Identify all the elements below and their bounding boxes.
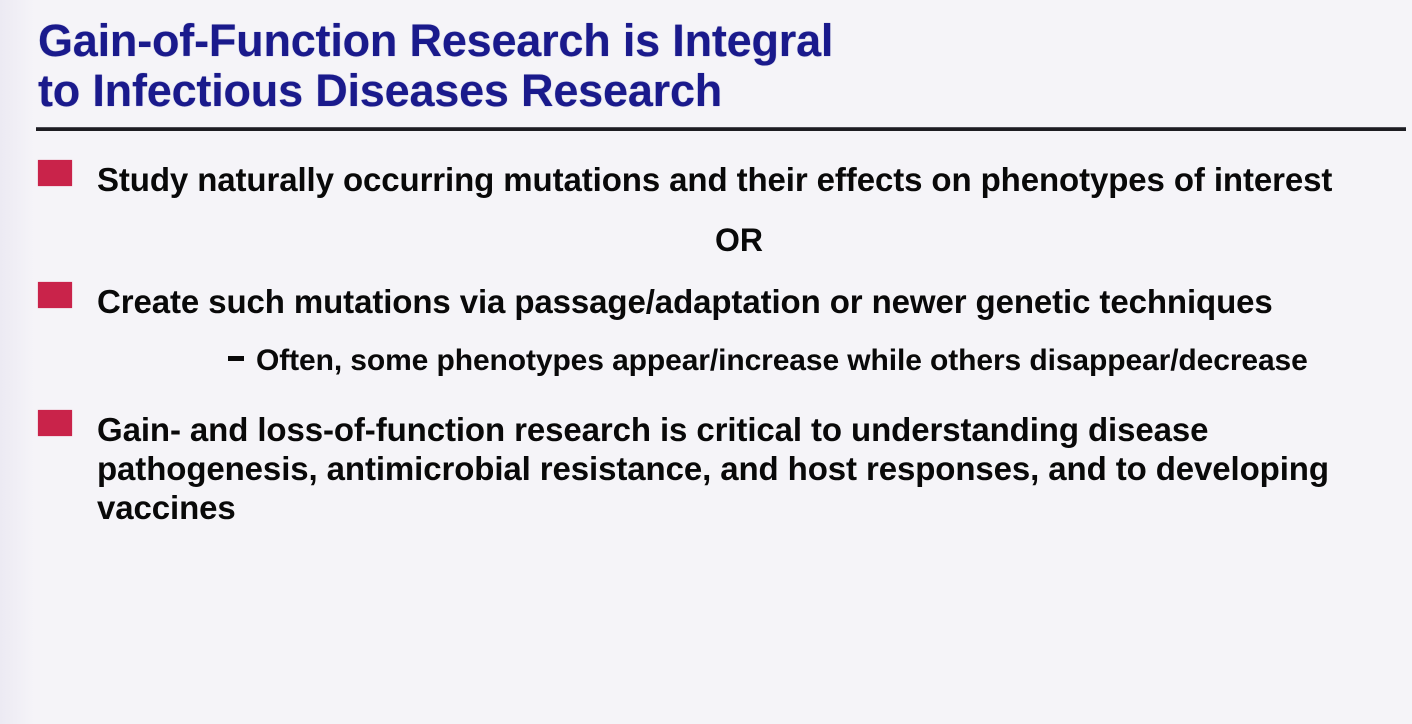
- bullet-text: Create such mutations via passage/adapta…: [97, 282, 1397, 321]
- bullet-text: Study naturally occurring mutations and …: [97, 160, 1397, 199]
- presentation-slide: Gain-of-Function Research is Integral to…: [0, 0, 1412, 724]
- slide-title-line-2: to Infectious Diseases Research: [38, 66, 1388, 116]
- spacer: [0, 199, 1412, 221]
- dash-bullet-icon: [228, 356, 244, 361]
- sub-bullet-item: Often, some phenotypes appear/increase w…: [0, 343, 1412, 378]
- red-square-bullet-icon: [38, 282, 72, 308]
- bullet-item: Study naturally occurring mutations and …: [0, 160, 1412, 199]
- bullet-text: Gain- and loss-of-function research is c…: [97, 410, 1397, 527]
- spacer: [0, 321, 1412, 343]
- slide-title-line-1: Gain-of-Function Research is Integral: [38, 16, 1388, 66]
- bullet-item: Create such mutations via passage/adapta…: [0, 282, 1412, 321]
- or-label: OR: [715, 221, 1412, 260]
- red-square-bullet-icon: [38, 160, 72, 186]
- bullet-item: Gain- and loss-of-function research is c…: [0, 410, 1412, 527]
- spacer: [0, 378, 1412, 410]
- sub-bullet-text: Often, some phenotypes appear/increase w…: [256, 343, 1376, 378]
- title-divider-rule: [36, 127, 1406, 131]
- spacer: [0, 260, 1412, 282]
- slide-body: Study naturally occurring mutations and …: [0, 160, 1412, 527]
- or-connector: OR: [0, 221, 1412, 260]
- red-square-bullet-icon: [38, 410, 72, 436]
- slide-title: Gain-of-Function Research is Integral to…: [38, 16, 1388, 116]
